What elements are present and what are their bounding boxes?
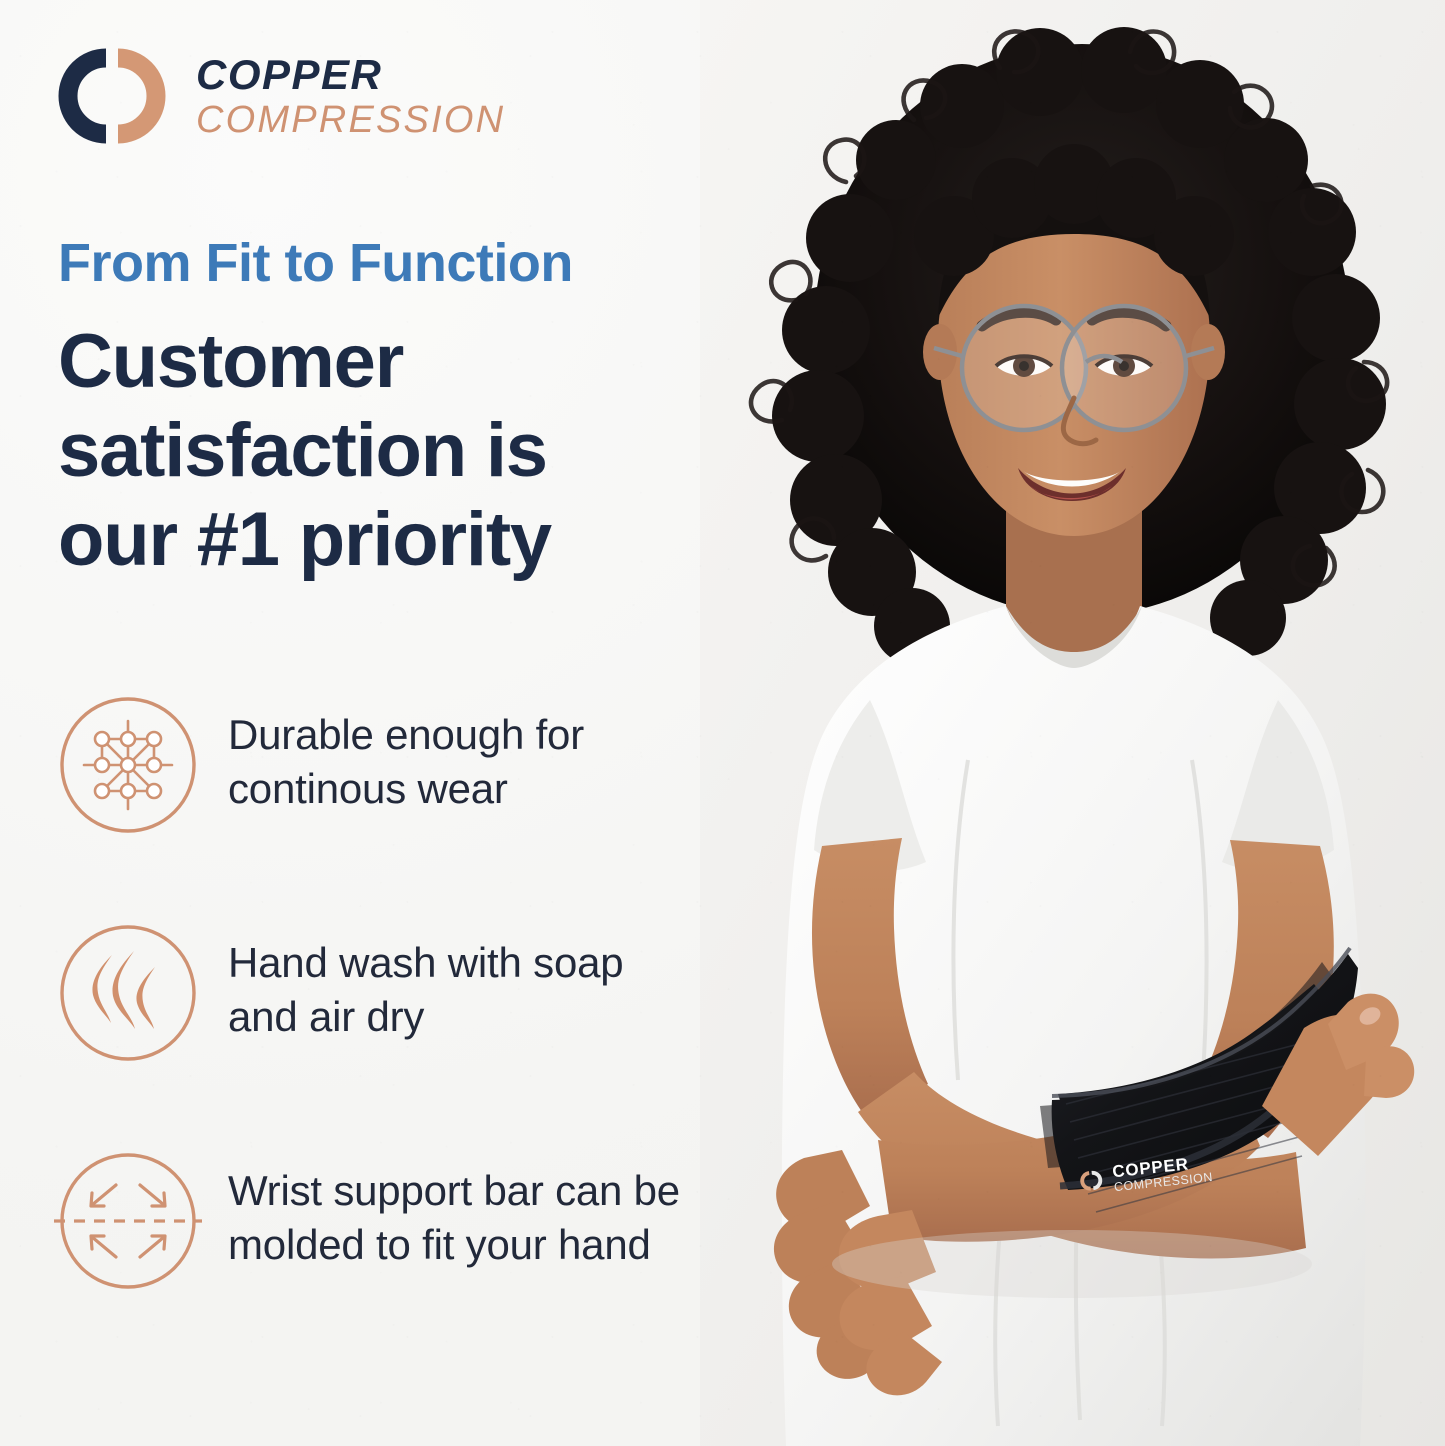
- molecular-network-lattice-icon: [58, 695, 198, 835]
- brand-name-bottom: COMPRESSION: [196, 101, 505, 139]
- feature-icon-wrapper: [50, 918, 206, 1068]
- feature-label: Hand wash with soap and air dry: [206, 918, 700, 1044]
- list-item: Durable enough for continous wear: [50, 690, 700, 840]
- model-illustration: [700, 0, 1445, 1446]
- headline-line-2: satisfaction is: [58, 407, 718, 496]
- expand-arrows-with-dashed-line-icon: [58, 1151, 198, 1291]
- list-item: Hand wash with soap and air dry: [50, 918, 700, 1068]
- eyebrow-heading: From Fit to Function: [58, 232, 573, 294]
- feature-label: Wrist support bar can be molded to fit y…: [206, 1146, 700, 1272]
- product-lifestyle-photo: [700, 0, 1445, 1446]
- steam-waves-icon: [58, 923, 198, 1063]
- brand-name-top: COPPER: [196, 54, 505, 96]
- list-item: Wrist support bar can be molded to fit y…: [50, 1146, 700, 1296]
- feature-icon-wrapper: [50, 1146, 206, 1296]
- feature-label: Durable enough for continous wear: [206, 690, 700, 816]
- feature-list: Durable enough for continous wear Hand w…: [50, 690, 700, 1296]
- product-marketing-poster: COPPER COMPRESSION From Fit to Function …: [0, 0, 1445, 1446]
- brand-wordmark: COPPER COMPRESSION: [196, 54, 505, 139]
- headline-line-3: our #1 priority: [58, 496, 718, 585]
- headline-line-1: Customer: [58, 318, 718, 407]
- copper-compression-interlocking-rings-logo-icon: [50, 44, 174, 148]
- page-title: Customer satisfaction is our #1 priority: [58, 318, 718, 585]
- feature-icon-wrapper: [50, 690, 206, 840]
- brand-logo: COPPER COMPRESSION: [50, 44, 505, 148]
